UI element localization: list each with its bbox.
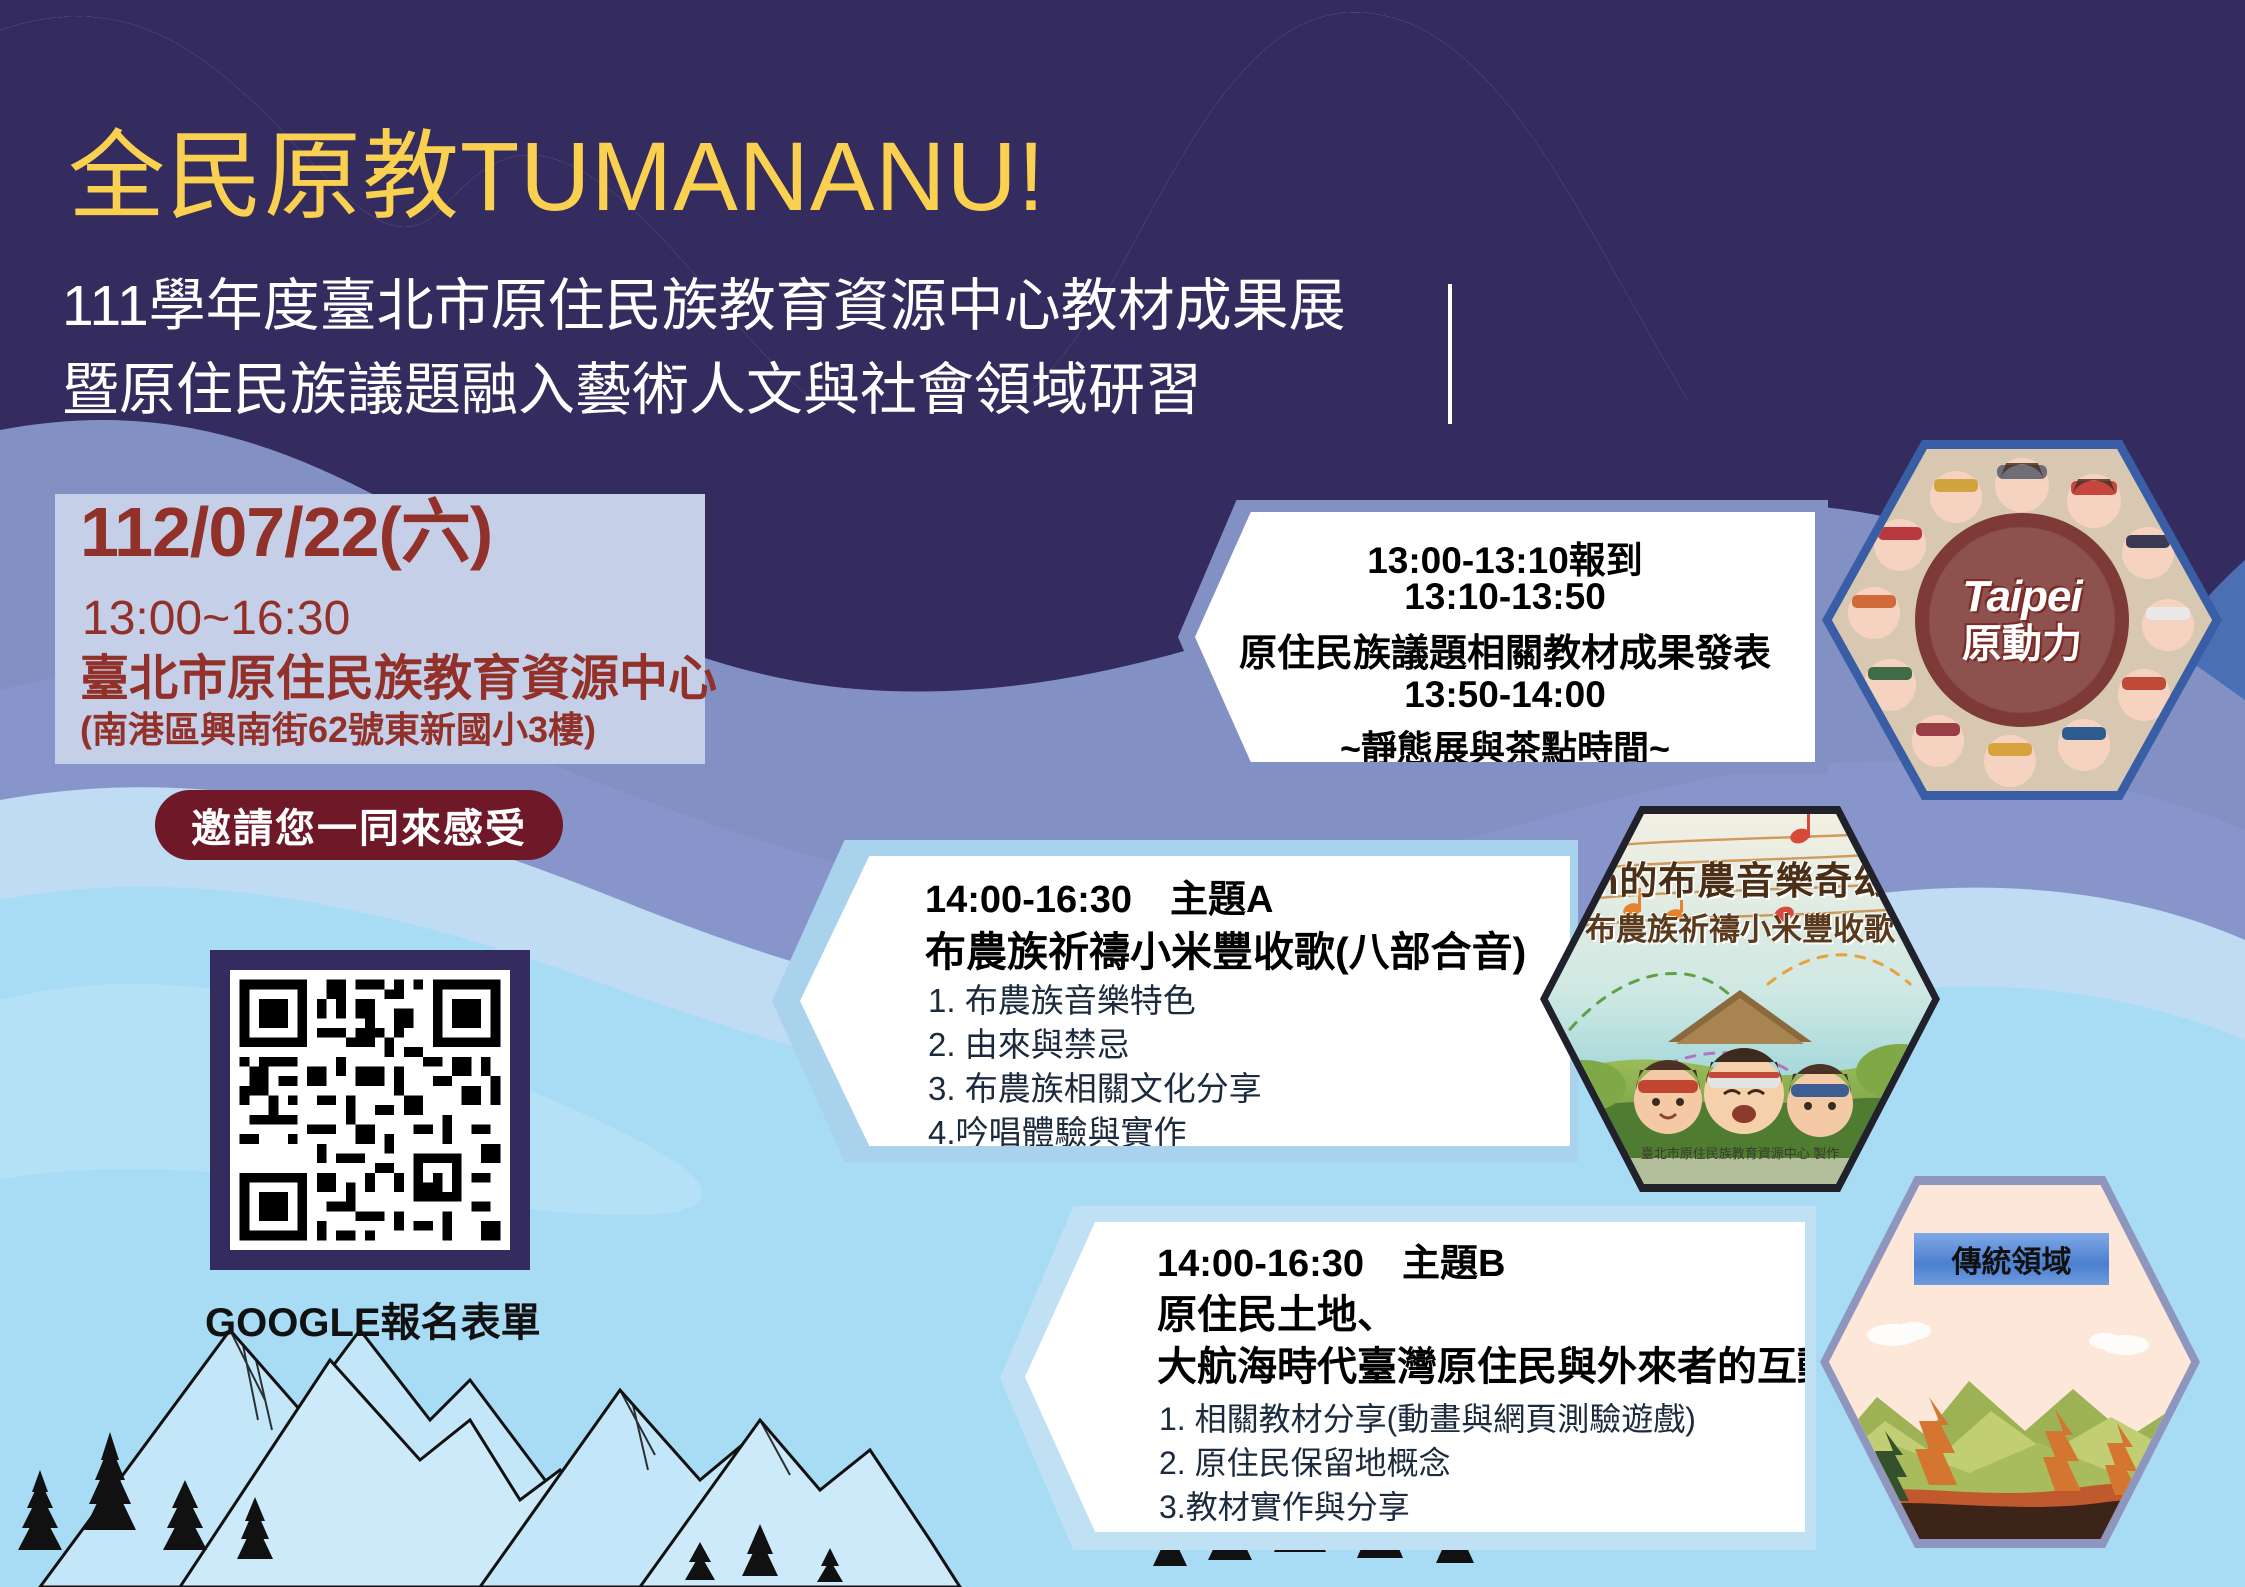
qr-code-caption: GOOGLE報名表單 — [205, 1290, 535, 1348]
invite-badge: 邀請您一同來感受 — [155, 790, 563, 860]
schedule-card-3-topic-line-1: 原住民土地、 — [1157, 1282, 1397, 1340]
event-venue: 臺北市原住民族教育資源中心 — [80, 655, 717, 704]
logo-text-en: Taipei — [1962, 575, 2082, 619]
schedule-card-2: 14:00-16:30 主題A 布農族祈禱小米豐收歌(八部合音) 1. 布農族音… — [800, 856, 1570, 1146]
territory-banner-label: 傳統領域 — [1914, 1233, 2109, 1285]
qr-code-frame[interactable] — [210, 950, 530, 1270]
schedule-card-1-line-3: 原住民族議題相關教材成果發表 — [1195, 622, 1815, 677]
schedule-card-3: 14:00-16:30 主題B 原住民土地、 大航海時代臺灣原住民與外來者的互動… — [1025, 1222, 1805, 1532]
schedule-card-2-bullet-1: 1. 布農族音樂特色 — [928, 974, 1196, 1022]
logo-disc: Taipei 原動力 — [1917, 515, 2127, 725]
subtitle-line-2: 暨原住民族議題融入藝術人文與社會領域研習 — [62, 362, 1202, 419]
schedule-card-3-bullet-3: 3.教材實作與分享 — [1159, 1482, 1410, 1528]
schedule-card-2-topic: 布農族祈禱小米豐收歌(八部合音) — [925, 918, 1526, 978]
logo-text-cn: 原動力 — [1962, 623, 2082, 665]
schedule-card-1: 13:00-13:10報到 13:10-13:50 原住民族議題相關教材成果發表… — [1195, 512, 1815, 762]
schedule-card-1-line-4: 13:50-14:00 — [1195, 674, 1815, 716]
qr-code-icon[interactable] — [230, 970, 510, 1250]
schedule-card-3-bullet-1: 1. 相關教材分享(動畫與網頁測驗遊戲) — [1159, 1394, 1696, 1440]
schedule-card-2-bullet-3: 3. 布農族相關文化分享 — [928, 1062, 1262, 1110]
schedule-card-2-bullet-2: 2. 由來與禁忌 — [928, 1018, 1130, 1066]
schedule-card-3-bullet-2: 2. 原住民保留地概念 — [1159, 1438, 1451, 1484]
page-title: 全民原教TUMANANU! — [68, 128, 1046, 225]
bunun-cover-title-2: 布農族祈禱小米豐收歌 — [1548, 904, 1932, 949]
event-address: (南港區興南街62號東新國小3樓) — [80, 712, 596, 748]
event-date: 112/07/22(六) — [80, 497, 492, 567]
schedule-card-1-line-2: 13:10-13:50 — [1195, 576, 1815, 618]
subtitle-line-1: 111學年度臺北市原住民族教育資源中心教材成果展 — [62, 278, 1346, 335]
event-time: 13:00~16:30 — [82, 595, 350, 643]
schedule-card-3-time: 14:00-16:30 主題B — [1157, 1232, 1505, 1287]
schedule-card-3-topic-line-2: 大航海時代臺灣原住民與外來者的互動 — [1157, 1334, 1837, 1392]
schedule-card-2-time: 14:00-16:30 主題A — [925, 868, 1273, 923]
title-divider-rule — [1448, 284, 1452, 424]
poster-root: 全民原教TUMANANU! 111學年度臺北市原住民族教育資源中心教材成果展 暨… — [0, 0, 2245, 1587]
